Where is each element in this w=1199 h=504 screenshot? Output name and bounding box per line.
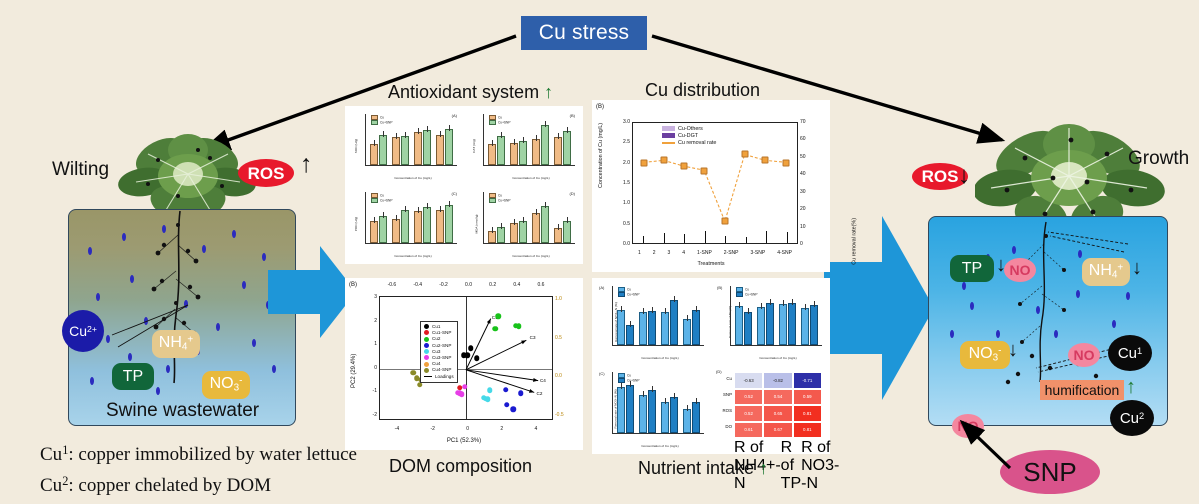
dom-pca-chart-card: (B) -0.6 -0.4 -0.2 0.0 0.2 0.4 0.6 3 2 1… bbox=[345, 278, 583, 450]
footnote-line-2: Cu2: copper chelated by DOM bbox=[40, 468, 357, 499]
heatmap-cell: 0.59 bbox=[793, 389, 822, 406]
chip-nh4-left: NH4+ bbox=[152, 330, 200, 358]
dom-pca-legend: Cu1 Cu1-SNP Cu2 Cu2-SNP Cu3 Cu3-SNP Cu4 … bbox=[420, 321, 458, 383]
nutrient-chart-c: Removal rate of NO3--N (%) (C) Cu Cu+SNP… bbox=[596, 368, 708, 450]
data-point bbox=[701, 168, 708, 175]
nutrient-intake-chart-card: Removal rate of NH4+-N (%) (A) Cu Cu+SNP… bbox=[592, 278, 830, 454]
chip-cu2plus-left: Cu2+ bbox=[62, 310, 104, 352]
antioxidant-chart-a: SOD (U/g) (A) Cu Cu+SNP Concentration of… bbox=[349, 110, 461, 182]
chip-no-upper: NO bbox=[1004, 258, 1036, 282]
ros-badge-left: ROS bbox=[238, 159, 294, 187]
cu-distribution-legend: Cu-Others Cu-DGT Cu removal rate bbox=[662, 126, 716, 147]
right-blue-arrow bbox=[824, 216, 936, 406]
pca-point bbox=[503, 387, 509, 393]
growth-label: Growth bbox=[1128, 148, 1189, 170]
pca-point bbox=[474, 355, 480, 361]
no3-down-arrow: ↓ bbox=[1008, 340, 1018, 360]
chip-no3-right: NO3- bbox=[960, 341, 1010, 369]
heatmap-col-label: R of TP bbox=[781, 439, 801, 493]
chip-cu2: Cu2 bbox=[1110, 400, 1154, 436]
nutrient-heatmap: (D) Cu SNP ROS DO -0.63 -0.82 -0.71 0.52… bbox=[714, 368, 826, 450]
nutrient-chart-b: Removal rate of TP (%) (B) Cu Cu+SNP Con… bbox=[714, 282, 826, 362]
data-point bbox=[640, 159, 647, 166]
pca-point bbox=[516, 324, 522, 330]
pca-point bbox=[492, 326, 498, 332]
footnote-line-1: Cu1: copper immobilized by water lettuce bbox=[40, 437, 357, 468]
humification-up-arrow: ↑ bbox=[1126, 376, 1136, 399]
cu-distribution-xlabel: Treatments bbox=[592, 261, 830, 267]
heatmap-cell: 0.52 bbox=[734, 389, 763, 406]
nutrient-up-arrow: ↑ bbox=[759, 458, 768, 478]
heatmap-cell: -0.63 bbox=[734, 372, 763, 389]
heatmap-cell: 0.81 bbox=[793, 422, 822, 439]
pca-point bbox=[485, 397, 491, 403]
heatmap-cell: 0.81 bbox=[793, 405, 822, 422]
ros-up-arrow-left: ↑ bbox=[300, 152, 313, 177]
cu-stress-title: Cu stress bbox=[521, 16, 647, 50]
wilting-label: Wilting bbox=[52, 159, 109, 181]
cu-distribution-y2label: Cu removal rate(%) bbox=[852, 218, 858, 265]
heatmap-cell: 0.65 bbox=[763, 405, 792, 422]
loading-label-c4: C4 bbox=[540, 378, 546, 383]
chip-no-lower: NO bbox=[952, 414, 984, 438]
pca-point bbox=[518, 391, 524, 397]
swine-wastewater-tank bbox=[68, 209, 296, 426]
chip-tp-right: TP bbox=[950, 255, 994, 282]
antioxidant-chart-card: SOD (U/g) (A) Cu Cu+SNP Concentration of… bbox=[345, 106, 583, 264]
chip-tp-left: TP bbox=[112, 363, 154, 390]
dom-pca-panel-tag: (B) bbox=[349, 282, 357, 288]
pca-point bbox=[504, 402, 510, 408]
antioxidant-chart-b: CAT (U/g) (B) Cu Cu+SNP Concentration of… bbox=[467, 110, 579, 182]
dom-pca-loading-yticks: 1.0 0.5 0.0 -0.5 bbox=[555, 296, 569, 418]
nh4-down-arrow: ↓ bbox=[1132, 258, 1142, 278]
dom-pca-loading-xticks: -0.6 -0.4 -0.2 0.0 0.2 0.4 0.6 bbox=[379, 282, 553, 288]
heatmap-panel-tag: (D) bbox=[716, 369, 722, 374]
chip-nh4-right: NH4+ bbox=[1082, 258, 1130, 286]
cu-distribution-ylabel: Concentration of Cu (mg/L) bbox=[598, 123, 604, 188]
cu-distribution-xticks: 1 2 3 4 1-SNP 2-SNP 3-SNP 4-SNP bbox=[632, 250, 798, 256]
loading-label-c3: C3 bbox=[530, 335, 536, 340]
chip-no-mid: NO bbox=[1068, 343, 1100, 367]
nutrient-chart-a: Removal rate of NH4+-N (%) (A) Cu Cu+SNP… bbox=[596, 282, 708, 362]
pca-point bbox=[459, 391, 465, 397]
heatmap-row-label-ros: ROS bbox=[714, 408, 732, 413]
antioxidant-up-arrow: ↑ bbox=[544, 82, 553, 102]
pca-point bbox=[511, 406, 517, 412]
pca-point bbox=[465, 352, 471, 358]
data-point bbox=[741, 151, 748, 158]
chip-cu2plus-label: Cu2+ bbox=[69, 324, 97, 338]
cu-distribution-panel-tag: (B) bbox=[596, 104, 604, 110]
water-lettuce-plant-left bbox=[118, 126, 258, 222]
loading-label-c2: C2 bbox=[537, 391, 543, 396]
cu-distribution-chart-card: (B) 3.0 2.5 2.0 1.5 1.0 0.5 0.0 70 60 50… bbox=[592, 100, 830, 272]
cu-distribution-y2ticks: 70 60 50 40 30 20 10 0 bbox=[800, 119, 814, 247]
heatmap-grid: -0.63 -0.82 -0.71 0.52 0.54 0.59 0.52 0.… bbox=[734, 372, 822, 438]
data-point bbox=[721, 218, 728, 225]
dom-pca-ylabel: PC2 (29.4%) bbox=[351, 354, 357, 388]
humification-badge: humification bbox=[1040, 380, 1124, 400]
dom-pca-xlabel: PC1 (52.3%) bbox=[345, 438, 583, 444]
pca-point bbox=[496, 313, 502, 319]
heatmap-cell: -0.82 bbox=[763, 372, 792, 389]
dom-pca-xticks: -4 -2 0 2 4 bbox=[379, 426, 553, 432]
chip-no3-left: NO3- bbox=[202, 371, 250, 399]
cu-distribution-caption: Cu distribution bbox=[645, 80, 760, 101]
heatmap-cell: -0.71 bbox=[793, 372, 822, 389]
data-point bbox=[660, 157, 667, 164]
data-point bbox=[762, 157, 769, 164]
heatmap-row-label-cu: Cu bbox=[714, 376, 732, 381]
antioxidant-caption: Antioxidant system ↑ bbox=[388, 82, 553, 103]
heatmap-col-label: R of NO3--N bbox=[801, 439, 839, 493]
footnotes: Cu1: copper immobilized by water lettuce… bbox=[40, 437, 357, 499]
heatmap-row-label-do: DO bbox=[714, 424, 732, 429]
chip-cu1: Cu1 bbox=[1108, 335, 1152, 371]
heatmap-cell: 0.54 bbox=[763, 389, 792, 406]
pca-point bbox=[487, 387, 493, 393]
heatmap-row-label-snp: SNP bbox=[714, 392, 732, 397]
pca-point bbox=[462, 384, 468, 390]
pca-loading-vectors bbox=[380, 297, 552, 419]
antioxidant-chart-c: POD (U/g) (C) Cu Cu+SNP Concentration of… bbox=[349, 188, 461, 260]
snp-badge: SNP bbox=[1000, 450, 1100, 494]
ros-down-arrow-right: ↓ bbox=[958, 164, 970, 188]
heatmap-cell: 0.67 bbox=[763, 422, 792, 439]
data-point bbox=[681, 163, 688, 170]
pca-point bbox=[468, 345, 474, 351]
data-point bbox=[783, 159, 790, 166]
antioxidant-chart-d: MDA (nmol/g) (D) Cu Cu+SNP Concentration… bbox=[467, 188, 579, 260]
heatmap-cell: 0.52 bbox=[734, 405, 763, 422]
cu-distribution-yticks: 3.0 2.5 2.0 1.5 1.0 0.5 0.0 bbox=[614, 119, 630, 247]
heatmap-cell: 0.61 bbox=[734, 422, 763, 439]
nutrient-intake-caption: Nutrient intake ↑ bbox=[638, 458, 768, 479]
swine-wastewater-label: Swine wastewater bbox=[106, 400, 259, 422]
dom-composition-caption: DOM composition bbox=[389, 456, 532, 477]
dom-pca-yticks: 3 2 1 0 -1 -2 bbox=[365, 294, 377, 418]
dom-pca-plot-area: C1 C3 C4 C2 bbox=[379, 296, 553, 420]
graphical-abstract: Cu stress Wilting bbox=[0, 0, 1199, 504]
pca-point bbox=[417, 382, 423, 388]
